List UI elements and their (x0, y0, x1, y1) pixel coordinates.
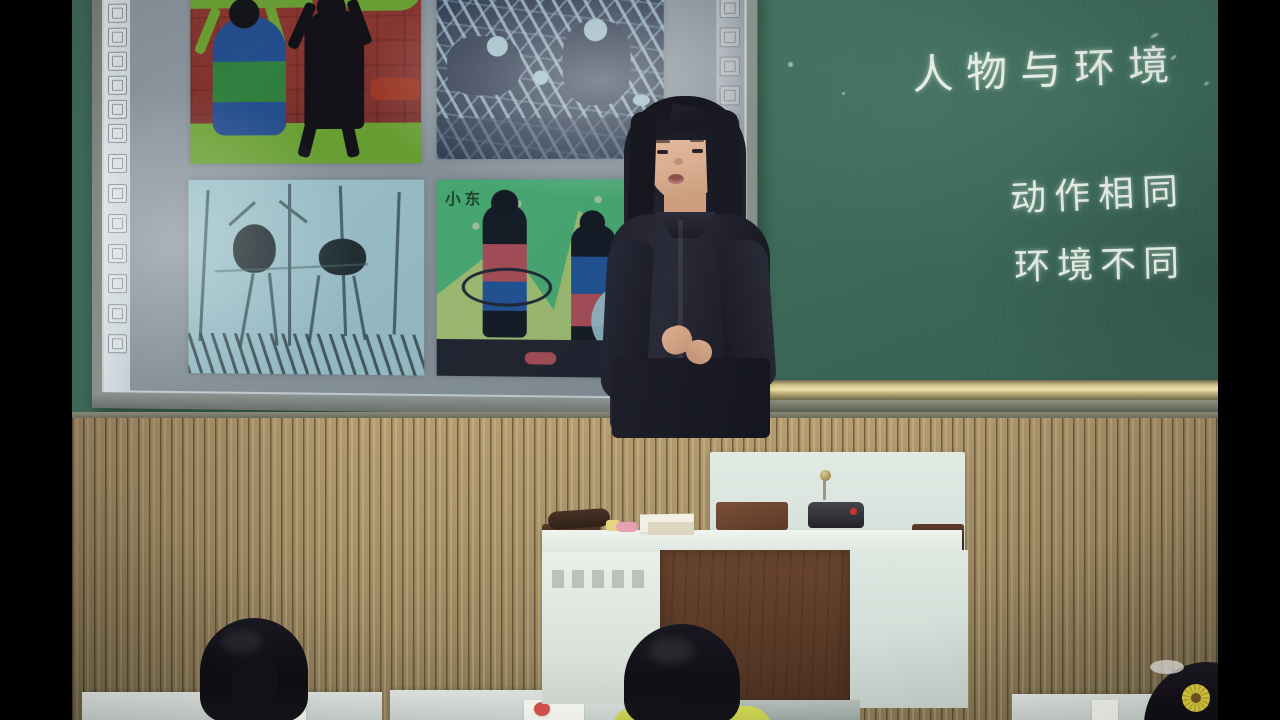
remote-led-icon (850, 508, 857, 515)
drawing-stroke (352, 275, 367, 340)
lectern-key[interactable] (823, 480, 826, 500)
glasses-case[interactable] (547, 508, 610, 530)
teacher-eye (692, 149, 703, 153)
artwork-top-left (190, 0, 421, 164)
drawing-stroke (199, 190, 210, 341)
figure-body-left (213, 16, 286, 136)
select-icon[interactable] (108, 76, 127, 95)
teacher (602, 90, 772, 430)
lectern-lock-knob[interactable] (820, 470, 831, 481)
classroom-room: 人物与环境 动作相同 环境不同 (72, 0, 1218, 720)
figure-hair-right (319, 239, 366, 276)
hair-highlight (648, 638, 694, 664)
student-head (624, 624, 740, 720)
sunflower-icon (1182, 684, 1210, 712)
whiteboard-left-toolbar[interactable] (104, 0, 130, 392)
student-ponytail (232, 654, 278, 720)
grid-icon[interactable] (108, 304, 127, 323)
teacher-eye (657, 150, 668, 154)
student-center (612, 624, 772, 720)
pink-eraser[interactable] (616, 522, 638, 532)
drawing-stroke (279, 200, 308, 224)
chalk-dust (842, 92, 845, 95)
drawing-ground-hatching (188, 333, 424, 376)
figure-silhouette (447, 36, 520, 96)
curtain-icon[interactable] (108, 184, 127, 203)
brown-cloth[interactable] (716, 502, 788, 530)
blackboard-line-2: 动作相同 (1009, 162, 1187, 222)
lectern-vent-slots (552, 570, 652, 588)
chalk-dust (788, 62, 793, 67)
drawing-stroke (228, 201, 256, 226)
water-cup (1092, 700, 1118, 720)
spotlight-icon[interactable] (108, 154, 127, 173)
diamond-icon[interactable] (108, 214, 127, 233)
sunflower-center (1191, 693, 1201, 703)
figure-head (487, 36, 508, 57)
hair-clip (1150, 660, 1184, 674)
eraser-icon[interactable] (108, 28, 127, 47)
save-icon[interactable] (720, 27, 741, 47)
teacher-skirt (612, 358, 770, 438)
classroom-scene: 人物与环境 动作相同 环境不同 (0, 0, 1280, 720)
letterbox-left (0, 0, 72, 720)
blackboard-line-3: 环境不同 (1013, 234, 1186, 290)
letterbox-right (1218, 0, 1280, 720)
settings-icon[interactable] (108, 334, 127, 353)
student-left-long-hair (182, 618, 332, 720)
drawing-stroke (393, 192, 401, 335)
jump-rope (462, 268, 552, 307)
teacher-mouth (668, 174, 684, 184)
teacher-brow (656, 140, 670, 143)
blackboard-title: 人物与环境 (911, 31, 1183, 101)
artwork-star (472, 223, 479, 230)
artwork-caption: 小 东 (445, 188, 480, 210)
redo-icon[interactable] (108, 124, 127, 143)
pen-icon[interactable] (108, 4, 127, 23)
undo-icon[interactable] (108, 100, 127, 119)
new-page-icon[interactable] (720, 56, 741, 76)
artwork-accent (525, 352, 557, 365)
lectern-right-panel (850, 550, 968, 708)
drawing-stroke (308, 275, 320, 342)
hair-highlight (222, 630, 262, 654)
scratch-dot (533, 70, 548, 84)
arrow-icon[interactable] (108, 244, 127, 263)
page-icon[interactable] (720, 0, 741, 18)
artwork-star (594, 196, 601, 203)
figure-hair-left (233, 224, 276, 273)
figure-body-right (304, 9, 364, 129)
artwork-accent (370, 78, 420, 101)
student-right-sunflower-cap (1138, 662, 1218, 720)
rope-jumper-head (491, 190, 518, 217)
artwork-bottom-left (188, 180, 424, 376)
paper-stack-2[interactable] (648, 522, 694, 535)
teacher-nose (674, 158, 683, 165)
shape-icon[interactable] (108, 52, 127, 71)
remote-control[interactable] (808, 502, 864, 528)
screenshot-icon[interactable] (108, 274, 127, 293)
figure-head (584, 18, 607, 41)
